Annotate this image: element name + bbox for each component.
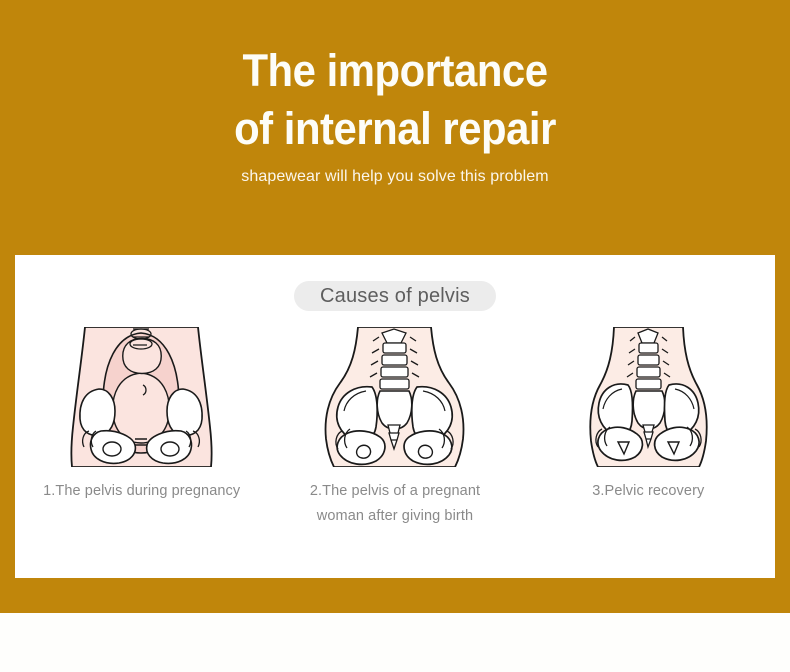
page-title: The importance of internal repair xyxy=(28,42,763,158)
figure-item: 3.Pelvic recovery xyxy=(533,327,763,504)
figure-caption: 2.The pelvis of a pregnant woman after g… xyxy=(310,479,480,529)
figure-item: 1.The pelvis during pregnancy xyxy=(27,327,257,504)
pelvis-during-pregnancy-illustration xyxy=(49,327,234,467)
page-subtitle: shapewear will help you solve this probl… xyxy=(0,166,790,188)
figure-item: 2.The pelvis of a pregnant woman after g… xyxy=(280,327,510,529)
section-badge-causes-of-pelvis: Causes of pelvis xyxy=(294,281,496,311)
figure-caption: 1.The pelvis during pregnancy xyxy=(43,479,240,504)
footer-strip xyxy=(0,613,790,672)
pelvis-after-birth-illustration xyxy=(302,327,487,467)
pelvic-recovery-illustration xyxy=(556,327,741,467)
content-card: Causes of pelvis xyxy=(15,255,775,578)
badge-row: Causes of pelvis xyxy=(15,281,775,311)
promo-banner-page: The importance of internal repair shapew… xyxy=(0,0,790,672)
figure-row: 1.The pelvis during pregnancy xyxy=(15,327,775,529)
figure-caption: 3.Pelvic recovery xyxy=(592,479,704,504)
